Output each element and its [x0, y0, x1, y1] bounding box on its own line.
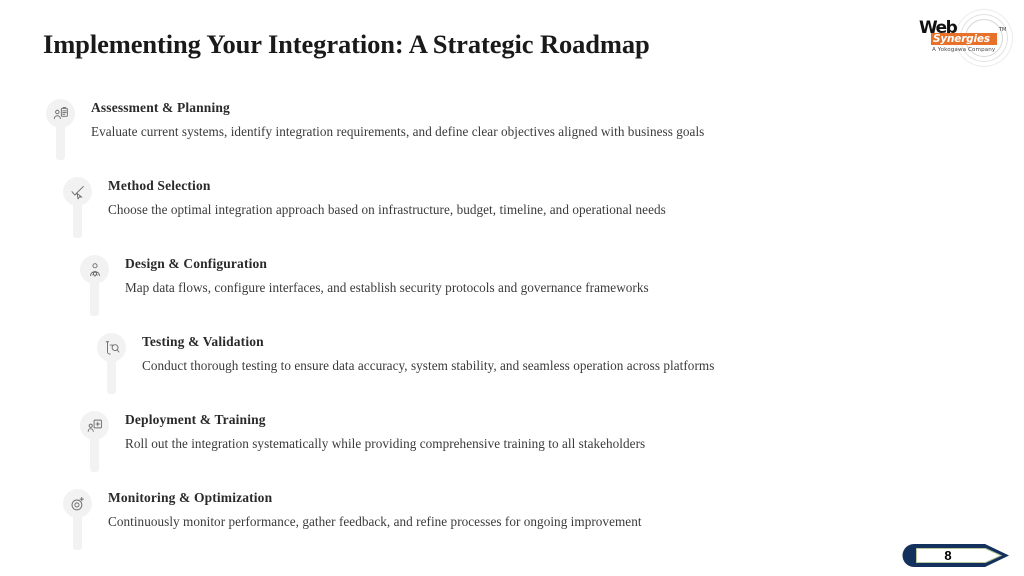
step-heading: Deployment & Training [125, 411, 645, 428]
step-badge-stem [90, 281, 99, 316]
user-clipboard-icon [53, 106, 69, 122]
step-description: Choose the optimal integration approach … [108, 201, 666, 219]
step-badge [80, 255, 109, 316]
roadmap-step-list: Assessment & Planning Evaluate current s… [0, 0, 1024, 576]
step-text-block: Deployment & Training Roll out the integ… [125, 411, 645, 453]
step-description: Conduct thorough testing to ensure data … [142, 357, 714, 375]
step-text-block: Testing & Validation Conduct thorough te… [142, 333, 714, 375]
step-heading: Design & Configuration [125, 255, 649, 272]
step-heading: Assessment & Planning [91, 99, 704, 116]
user-gear-icon [87, 262, 103, 278]
step-badge-stem [73, 203, 82, 238]
step-heading: Method Selection [108, 177, 666, 194]
step-text-block: Design & Configuration Map data flows, c… [125, 255, 649, 297]
page-number: 8 [902, 543, 994, 568]
step-text-block: Assessment & Planning Evaluate current s… [91, 99, 704, 141]
step-text-block: Monitoring & Optimization Continuously m… [108, 489, 642, 531]
step-heading: Testing & Validation [142, 333, 714, 350]
page-number-badge: 8 [902, 543, 1010, 568]
step-badge [80, 411, 109, 472]
step-badge [46, 99, 75, 160]
step-description: Evaluate current systems, identify integ… [91, 123, 704, 141]
step-badge-stem [107, 359, 116, 394]
step-badge-stem [90, 437, 99, 472]
step-description: Continuously monitor performance, gather… [108, 513, 642, 531]
user-presentation-icon [87, 418, 103, 434]
check-cursor-icon [70, 184, 86, 200]
step-description: Map data flows, configure interfaces, an… [125, 279, 649, 297]
test-flask-search-icon [104, 340, 120, 356]
step-description: Roll out the integration systematically … [125, 435, 645, 453]
step-badge [63, 177, 92, 238]
step-badge [63, 489, 92, 550]
step-heading: Monitoring & Optimization [108, 489, 642, 506]
step-text-block: Method Selection Choose the optimal inte… [108, 177, 666, 219]
step-badge-stem [56, 125, 65, 160]
step-badge-stem [73, 515, 82, 550]
step-badge [97, 333, 126, 394]
target-sparkle-icon [70, 496, 86, 512]
